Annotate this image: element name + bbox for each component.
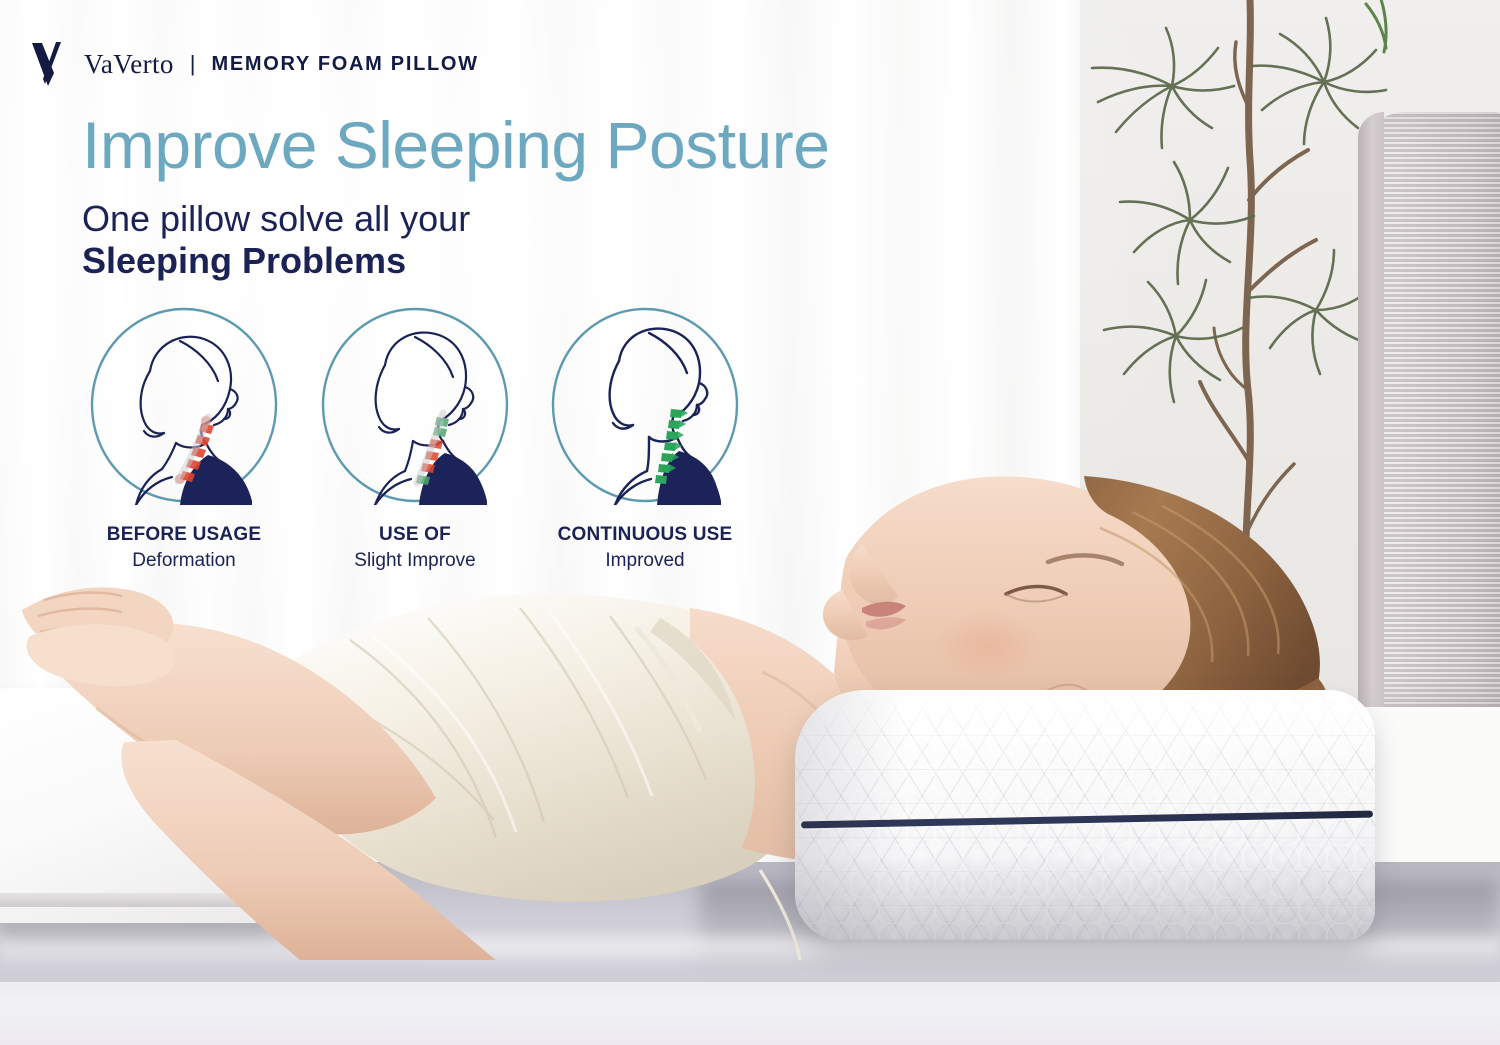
vaverto-v-logo-icon (30, 40, 70, 88)
woman-profile-posture-icon (84, 305, 284, 505)
brand-name: VaVerto (84, 49, 174, 80)
pillow-bottom-shading (795, 854, 1375, 940)
headboard-edge (1358, 112, 1384, 707)
hero-headline: Improve Sleeping Posture (82, 112, 829, 178)
step-label: CONTINUOUS USE (545, 523, 745, 547)
step-label: BEFORE USAGE (84, 523, 284, 547)
hero-subline-bold: Sleeping Problems (82, 240, 406, 282)
woman-profile-posture-icon (545, 305, 745, 505)
step-use-of: USE OF Slight Improve (315, 305, 515, 574)
memory-foam-pillow (795, 690, 1375, 940)
step-sublabel: Improved (545, 549, 745, 573)
posture-steps: BEFORE USAGE Deformation (84, 305, 784, 595)
marketing-text-panel: VaVerto | MEMORY FOAM PILLOW Improve Sle… (0, 0, 820, 620)
brand-separator: | (188, 51, 198, 77)
step-continuous-use: CONTINUOUS USE Improved (545, 305, 745, 574)
step-sublabel: Slight Improve (315, 549, 515, 573)
hero-subline-regular: One pillow solve all your (82, 198, 470, 240)
brand-tagline: MEMORY FOAM PILLOW (212, 53, 479, 76)
product-hero-image: VaVerto | MEMORY FOAM PILLOW Improve Sle… (0, 0, 1500, 1045)
step-label: USE OF (315, 523, 515, 547)
brand-bar: VaVerto | MEMORY FOAM PILLOW (30, 40, 479, 88)
woman-profile-posture-icon (315, 305, 515, 505)
step-sublabel: Deformation (84, 549, 284, 573)
pillow-body (795, 690, 1375, 940)
step-before-usage: BEFORE USAGE Deformation (84, 305, 284, 574)
